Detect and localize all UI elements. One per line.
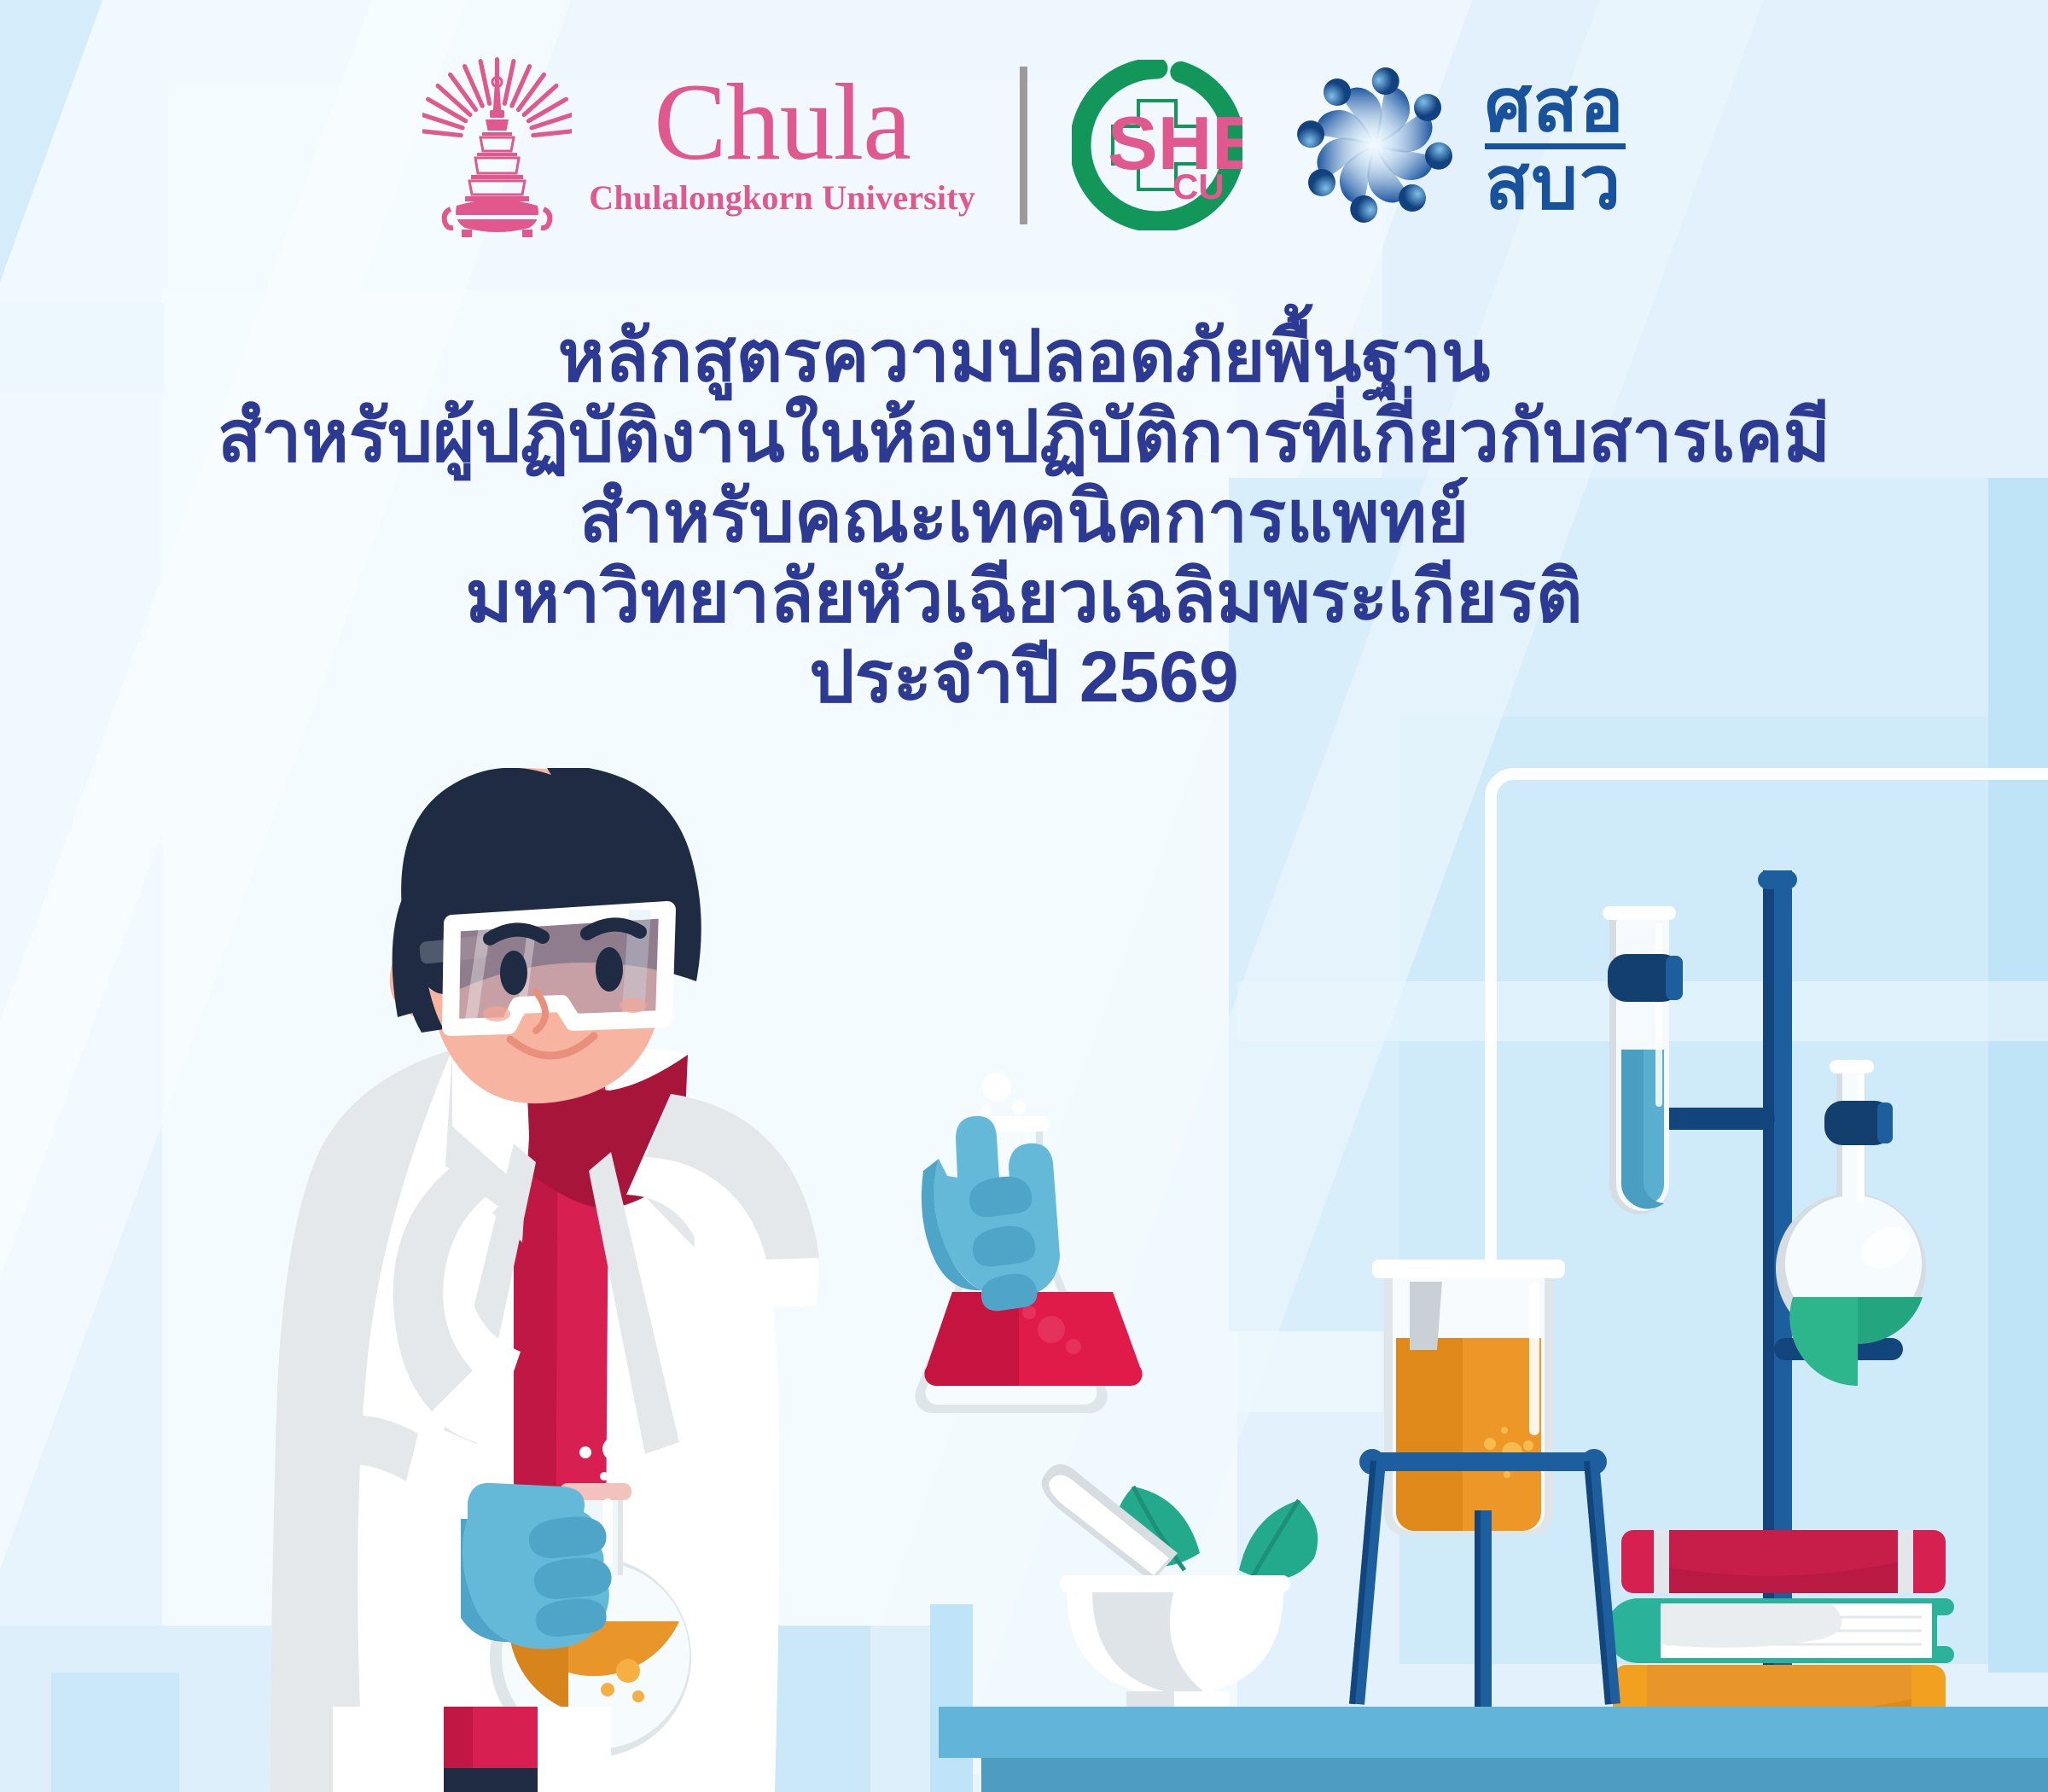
- desk-edge: [981, 1758, 2048, 1792]
- poster-canvas: Chula Chulalongkorn University SHE CU SH…: [0, 0, 2048, 1792]
- round-bottom-flask-green: [1758, 1050, 1954, 1425]
- lab-illustration: [0, 0, 2048, 1792]
- erlenmeyer-flask: [905, 1058, 1271, 1442]
- scientist-lower-body: [299, 1707, 657, 1792]
- book-stack: [1604, 1515, 1971, 1737]
- test-tube-on-stand: [1577, 887, 1722, 1246]
- desk-surface: [939, 1707, 2048, 1758]
- beaker-on-tripod: [1331, 1229, 1638, 1724]
